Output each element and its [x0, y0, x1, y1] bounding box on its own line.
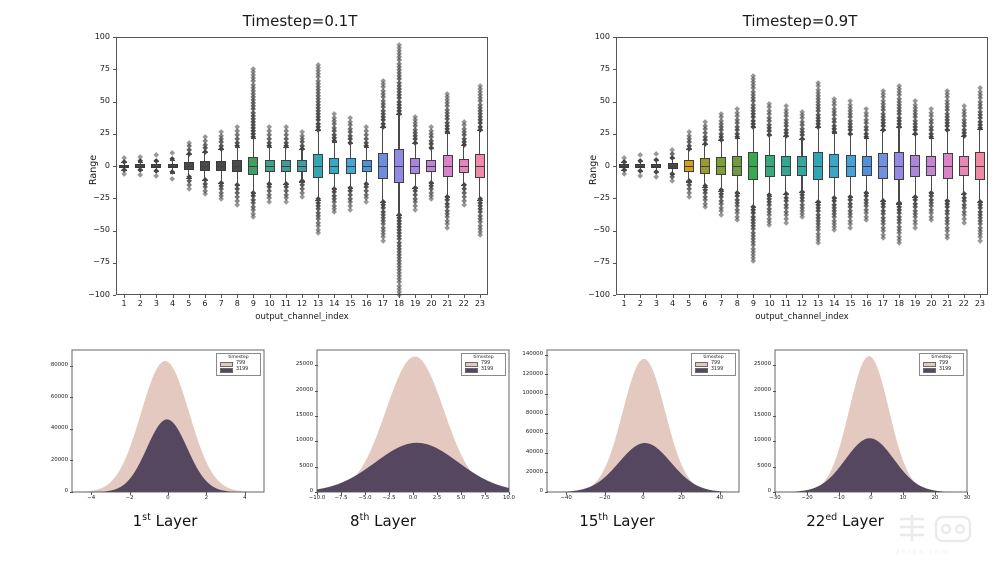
hist-layer-15-ytick-0: 0	[495, 488, 543, 494]
hist-layer-22-xtick-2: −10	[823, 495, 855, 501]
hist-layer-1-ytickmark-3	[70, 397, 73, 398]
boxplot-right-outlier-marker	[815, 240, 821, 246]
boxplot-left-box-column	[375, 0, 391, 335]
boxplot-right-whisker	[866, 138, 867, 157]
boxplot-left-whisker	[237, 147, 238, 160]
boxplot-right-whisker-cap	[864, 193, 870, 194]
hist-layer-22-xtickmark-5	[935, 492, 936, 495]
boxplot-right-whisker-cap	[621, 170, 627, 171]
boxplot-left-outlier-marker	[169, 176, 175, 182]
boxplot-right-whisker	[737, 138, 738, 156]
boxplot-left-whisker-cap	[477, 200, 483, 201]
boxplot-right-median-line	[765, 166, 775, 167]
boxplot-left-whisker-cap	[315, 130, 321, 131]
boxplot-left-box-column	[294, 0, 310, 335]
hist-layer-1-series-3199	[72, 419, 264, 492]
boxplot-right-whisker-cap	[767, 196, 773, 197]
boxplot-right-whisker-cap	[848, 134, 854, 135]
boxplot-right-box-column	[762, 0, 778, 335]
boxplot-right-ylabel: Range	[588, 155, 599, 185]
hist-layer-15-xtick-0: −40	[550, 495, 582, 501]
boxplot-right-whisker-cap	[912, 134, 918, 135]
boxplot-left-whisker	[221, 149, 222, 160]
hist-layer-15-ytickmark-5	[545, 394, 548, 395]
boxplot-right-whisker-cap	[654, 160, 660, 161]
hist-layer-15-xtick-2: 0	[627, 495, 659, 501]
hist-layer-1-xtickmark-3	[206, 492, 207, 495]
hist-layer-15-xtickmark-3	[681, 492, 682, 495]
hist-layer-15-ytick-6: 120000	[495, 371, 543, 377]
layer-caption-8: 8th Layer	[293, 512, 473, 530]
boxplot-left-whisker-cap	[332, 189, 338, 190]
hist-layer-22-xtickmark-4	[903, 492, 904, 495]
layer-caption-1-num: 1	[133, 512, 143, 530]
boxplot-left-xtickmark-10	[286, 295, 287, 298]
boxplot-left-whisker	[398, 183, 399, 215]
boxplot-right-whisker-cap	[864, 138, 870, 139]
boxplot-right-xtickmark-22	[980, 295, 981, 298]
boxplot-left-outlier-marker	[428, 196, 434, 202]
boxplot-right-whisker-cap	[702, 187, 708, 188]
boxplot-right-box-column	[681, 0, 697, 335]
boxplot-right-whisker-cap	[621, 162, 627, 163]
boxplot-right-outlier-marker	[653, 174, 659, 180]
hist-layer-22-legend-swatch	[923, 368, 936, 373]
boxplot-left-ytick-1: −75	[74, 257, 110, 266]
hist-layer-22-legend: timestep7993199	[919, 353, 964, 376]
boxplot-right-outlier-marker	[864, 217, 870, 223]
boxplot-left-whisker	[285, 147, 286, 160]
boxplot-left-whisker-cap	[461, 145, 467, 146]
boxplot-left-xtickmark-19	[431, 295, 432, 298]
boxplot-left-outlier-marker	[234, 202, 240, 208]
boxplot-right-box-column	[697, 0, 713, 335]
histogram-panel-layer-8: 0500010000150002000025000−10.0−7.5−5.0−2…	[265, 344, 515, 514]
boxplot-left-whisker	[318, 178, 319, 200]
boxplot-right-outlier-marker	[831, 227, 837, 233]
hist-layer-22-ytickmark-2	[773, 441, 776, 442]
boxplot-right-box-column	[907, 0, 923, 335]
boxplot-left-outlier-marker	[364, 124, 370, 130]
boxplot-right-whisker	[818, 180, 819, 202]
boxplot-right-whisker	[850, 134, 851, 155]
hist-layer-8-ytick-4: 20000	[265, 387, 313, 393]
boxplot-right-box-column	[810, 0, 826, 335]
boxplot-left-box-column	[456, 0, 472, 335]
boxplot-left-xtickmark-9	[270, 295, 271, 298]
boxplot-right-box-column	[859, 0, 875, 335]
hist-layer-1-legend-item: 3199	[220, 367, 257, 373]
hist-layer-15-ytick-1: 20000	[495, 469, 543, 475]
boxplot-right-ytick-2: −50	[574, 225, 610, 234]
boxplot-left-box-column	[132, 0, 148, 335]
hist-layer-15-ytickmark-3	[545, 433, 548, 434]
boxplot-right-median-line	[910, 166, 920, 167]
boxplot-left-xtickmark-4	[189, 295, 190, 298]
boxplot-right-outlier-marker	[912, 225, 918, 231]
boxplot-left-outlier-marker	[444, 225, 450, 231]
boxplot-right-ytick-5: 25	[574, 128, 610, 137]
boxplot-right-xtickmark-14	[851, 295, 852, 298]
boxplot-right-median-line	[813, 166, 823, 167]
boxplot-left-outlier-marker	[267, 124, 273, 130]
hist-layer-1-legend-label: 3199	[236, 367, 248, 373]
boxplot-right-median-line	[829, 166, 839, 167]
boxplot-right-whisker-cap	[638, 171, 644, 172]
boxplot-right-xtickmark-15	[867, 295, 868, 298]
hist-layer-15-xtickmark-1	[605, 492, 606, 495]
hist-layer-15-ytickmark-2	[545, 453, 548, 454]
boxplot-right-outlier-marker	[653, 151, 659, 157]
boxplot-left-whisker	[350, 143, 351, 158]
boxplot-left-median-line	[200, 166, 210, 167]
boxplot-left-median-line	[216, 166, 226, 167]
boxplot-right-xtickmark-16	[883, 295, 884, 298]
boxplot-left-whisker-cap	[315, 200, 321, 201]
boxplot-right-xtickmark-19	[931, 295, 932, 298]
hist-layer-1-ytick-2: 40000	[20, 425, 68, 431]
boxplot-left-ytick-2: −50	[74, 225, 110, 234]
hist-layer-8-xtickmark-0	[317, 492, 318, 495]
boxplot-right-box-column	[923, 0, 939, 335]
boxplot-left-whisker-cap	[348, 143, 354, 144]
boxplot-right-box-column	[729, 0, 745, 335]
hist-layer-1-xtick-0: −4	[75, 495, 107, 501]
boxplot-left-outlier-marker	[283, 199, 289, 205]
hist-layer-22-xtick-5: 20	[919, 495, 951, 501]
hist-layer-22-xtick-4: 10	[887, 495, 919, 501]
boxplot-left-whisker-cap	[267, 147, 273, 148]
boxplot-right-whisker	[818, 127, 819, 152]
boxplot-left-box-column	[116, 0, 132, 335]
hist-layer-15-ytickmark-0	[545, 492, 548, 493]
boxplot-right-box-column	[648, 0, 664, 335]
boxplot-left-whisker	[301, 149, 302, 160]
boxplot-left-whisker	[334, 174, 335, 189]
hist-layer-15-ytick-2: 40000	[495, 449, 543, 455]
hist-layer-1-xtick-1: −2	[114, 495, 146, 501]
boxplot-left-whisker-cap	[267, 184, 273, 185]
boxplot-left-whisker	[366, 147, 367, 160]
boxplot-right-box-column	[616, 0, 632, 335]
hist-layer-8-xtickmark-2	[365, 492, 366, 495]
hist-layer-22-legend-item: 3199	[923, 367, 960, 373]
hist-layer-15-ytick-3: 60000	[495, 429, 543, 435]
boxplot-left-median-line	[297, 166, 307, 167]
hist-layer-8-ytickmark-4	[315, 391, 318, 392]
boxplot-left-whisker-cap	[396, 114, 402, 115]
boxplot-right-whisker	[979, 129, 980, 153]
boxplot-left-whisker-cap	[283, 184, 289, 185]
boxplot-left-xtickmark-15	[367, 295, 368, 298]
boxplot-left-median-line	[362, 166, 372, 167]
boxplot-left-outlier-marker	[202, 191, 208, 197]
hist-layer-8-ytick-5: 25000	[265, 361, 313, 367]
boxplot-right-ytick-6: 50	[574, 96, 610, 105]
boxplot-right-whisker-cap	[848, 197, 854, 198]
boxplot-left-xtickmark-22	[480, 295, 481, 298]
hist-layer-22-xtickmark-3	[871, 492, 872, 495]
hist-layer-1-xtick-2: 0	[152, 495, 184, 501]
boxplot-left-median-line	[378, 166, 388, 167]
boxplot-left-whisker	[463, 173, 464, 185]
boxplot-right-whisker-cap	[929, 138, 935, 139]
boxplot-left-outlier-marker	[331, 209, 337, 215]
boxplot-left-outlier-marker	[347, 115, 353, 121]
boxplot-right-box-column	[778, 0, 794, 335]
boxplot-left-whisker	[221, 171, 222, 182]
layer-caption-22: 22ed Layer	[755, 512, 935, 530]
boxplot-left-whisker-cap	[380, 127, 386, 128]
boxplot-right-xtickmark-1	[640, 295, 641, 298]
boxplot-right-whisker-cap	[767, 135, 773, 136]
boxplot-left-whisker-cap	[364, 184, 370, 185]
boxplot-right-whisker-cap	[783, 136, 789, 137]
boxplot-right-outlier-marker	[718, 212, 724, 218]
boxplot-left-xtickmark-18	[415, 295, 416, 298]
boxplot-left-outlier-marker	[137, 154, 143, 160]
boxplot-right-whisker	[947, 179, 948, 201]
boxplot-left-whisker-cap	[380, 202, 386, 203]
boxplot-left-whisker-cap	[202, 180, 208, 181]
boxplot-left-box-column	[439, 0, 455, 335]
layer-caption-1-sup: st	[142, 512, 151, 523]
boxplot-right-box-column	[875, 0, 891, 335]
layer-caption-15-num: 15	[579, 512, 598, 530]
boxplot-left-median-line	[265, 166, 275, 167]
boxplot-right-box-column	[745, 0, 761, 335]
boxplot-left-xtickmark-11	[302, 295, 303, 298]
boxplot-left-box-column	[472, 0, 488, 335]
boxplot-right-outlier-marker	[750, 258, 756, 264]
histogram-panel-layer-22: 0500010000150002000025000−30−20−10010203…	[723, 344, 973, 514]
hist-layer-1-xtick-4: 4	[229, 495, 261, 501]
boxplot-left-whisker	[463, 145, 464, 159]
hist-layer-15-xtickmark-2	[643, 492, 644, 495]
layer-caption-8-tail: Layer	[369, 512, 416, 530]
boxplot-left-whisker	[350, 174, 351, 188]
boxplot-left-whisker-cap	[170, 172, 176, 173]
layer-caption-22-tail: Layer	[837, 512, 884, 530]
boxplot-right-median-line	[943, 166, 953, 167]
hist-layer-15-ytickmark-6	[545, 374, 548, 375]
hist-layer-8-ytick-0: 0	[265, 488, 313, 494]
boxplot-left-median-line	[313, 166, 323, 167]
boxplot-right-whisker-cap	[735, 193, 741, 194]
hist-layer-8-ytickmark-2	[315, 441, 318, 442]
boxplot-right-ytick-0: −100	[574, 290, 610, 299]
boxplot-right-whisker-cap	[670, 174, 676, 175]
boxplot-left-outlier-marker	[412, 207, 418, 213]
boxplot-right-whisker	[834, 132, 835, 154]
boxplot-right-whisker-cap	[896, 203, 902, 204]
boxplot-right-xtickmark-10	[786, 295, 787, 298]
hist-layer-22-ytickmark-1	[773, 467, 776, 468]
boxplot-right-box-column	[956, 0, 972, 335]
boxplot-right-whisker-cap	[945, 201, 951, 202]
boxplot-left-median-line	[346, 166, 356, 167]
boxplot-left-whisker	[415, 174, 416, 188]
boxplot-right-median-line	[748, 166, 758, 167]
boxplot-right-median-line	[894, 166, 904, 167]
boxplot-left-xtickmark-6	[221, 295, 222, 298]
boxplot-left-whisker-cap	[251, 138, 257, 139]
hist-layer-15-xtickmark-4	[720, 492, 721, 495]
hist-layer-8-ytickmark-1	[315, 467, 318, 468]
boxplot-left-whisker-cap	[445, 132, 451, 133]
hist-layer-8-ytickmark-5	[315, 365, 318, 366]
boxplot-left-outlier-marker	[169, 150, 175, 156]
boxplot-right-outlier-marker	[669, 178, 675, 184]
boxplot-right-whisker	[785, 176, 786, 194]
hist-layer-22-xtickmark-0	[775, 492, 776, 495]
boxplot-left-outlier-marker	[121, 171, 127, 177]
hist-layer-22-legend-swatch	[923, 362, 936, 367]
boxplot-left-median-line	[151, 166, 161, 167]
boxplot-left-whisker-cap	[202, 152, 208, 153]
boxplot-left-xtickmark-5	[205, 295, 206, 298]
boxplot-left-whisker-cap	[332, 141, 338, 142]
boxplot-right-whisker	[898, 127, 899, 152]
boxplot-left-whisker	[447, 177, 448, 197]
boxplot-left-box-column	[278, 0, 294, 335]
hist-layer-22-ytick-3: 15000	[723, 412, 771, 418]
hist-layer-22-ytick-5: 25000	[723, 361, 771, 367]
histogram-panel-layer-1: 020000400006000080000−4−2024timestep7993…	[20, 344, 270, 514]
boxplot-left-box-column	[326, 0, 342, 335]
boxplot-right-ytick-7: 75	[574, 64, 610, 73]
boxplot-left-xtickmark-3	[173, 295, 174, 298]
boxplot-left-whisker-cap	[445, 197, 451, 198]
boxplot-right-xtickmark-12	[818, 295, 819, 298]
boxplot-panel-timestep-0p9t: Timestep=0.9T Range output_channel_index…	[500, 0, 1000, 335]
hist-layer-15-ytickmark-7	[545, 355, 548, 356]
boxplot-left-whisker-cap	[235, 147, 241, 148]
hist-layer-22-xtickmark-1	[807, 492, 808, 495]
boxplot-right-whisker-cap	[961, 136, 967, 137]
hist-layer-1-xtickmark-0	[91, 492, 92, 495]
boxplot-right-xtickmark-7	[737, 295, 738, 298]
hist-layer-22-xtickmark-2	[839, 492, 840, 495]
boxplot-left-box-column	[391, 0, 407, 335]
boxplot-right-median-line	[651, 166, 661, 167]
boxplot-left-box-column	[165, 0, 181, 335]
boxplot-right-whisker	[688, 149, 689, 160]
boxplot-left-xtickmark-8	[253, 295, 254, 298]
boxplot-right-outlier-marker	[686, 194, 692, 200]
boxplot-right-median-line	[959, 166, 969, 167]
boxplot-left-whisker-cap	[348, 188, 354, 189]
boxplot-left-whisker	[382, 127, 383, 153]
hist-layer-8-xtickmark-1	[341, 492, 342, 495]
boxplot-left-whisker	[237, 172, 238, 185]
boxplot-left-box-column	[407, 0, 423, 335]
hist-layer-22-xtick-3: 0	[855, 495, 887, 501]
hist-layer-15-legend-label: 3199	[711, 367, 723, 373]
boxplot-right-whisker	[947, 130, 948, 153]
hist-layer-22-series-3199	[775, 438, 967, 492]
boxplot-right-box-column	[713, 0, 729, 335]
hist-layer-15-ytickmark-4	[545, 414, 548, 415]
boxplot-left-whisker	[318, 130, 319, 155]
boxplot-right-whisker	[915, 177, 916, 197]
boxplot-left-outlier-marker	[153, 173, 159, 179]
hist-layer-22-ytick-0: 0	[723, 488, 771, 494]
hist-layer-22-xtick-1: −20	[791, 495, 823, 501]
hist-layer-22-ytick-4: 20000	[723, 387, 771, 393]
boxplot-right-box-column	[891, 0, 907, 335]
boxplot-right-whisker	[688, 172, 689, 182]
boxplot-left-median-line	[443, 166, 453, 167]
boxplot-left-whisker	[447, 132, 448, 155]
hist-layer-1-legend-swatch	[220, 362, 233, 367]
boxplot-left-median-line	[184, 166, 194, 167]
boxplot-right-ytick-8: 100	[574, 32, 610, 41]
boxplot-left-whisker	[431, 148, 432, 160]
boxplot-right-whisker	[915, 134, 916, 155]
boxplot-left-box-column	[148, 0, 164, 335]
boxplot-panel-timestep-0p1t: Timestep=0.1T Range output_channel_index…	[0, 0, 500, 335]
boxplot-left-whisker	[382, 179, 383, 202]
hist-layer-22-ytickmark-4	[773, 391, 776, 392]
hist-layer-8-series-3199	[317, 443, 509, 492]
boxplot-left-xtickmark-13	[334, 295, 335, 298]
boxplot-left-whisker	[366, 172, 367, 184]
boxplot-right-whisker-cap	[751, 207, 757, 208]
boxplot-left-outlier-marker	[137, 172, 143, 178]
boxplot-left-whisker-cap	[412, 188, 418, 189]
boxplot-right-whisker	[931, 176, 932, 193]
boxplot-right-whisker-cap	[977, 202, 983, 203]
boxplot-left-whisker-cap	[429, 148, 435, 149]
boxplot-right-outlier-marker	[702, 204, 708, 210]
boxplot-right-whisker	[882, 179, 883, 201]
hist-layer-1-xtickmark-4	[245, 492, 246, 495]
boxplot-left-box-column	[342, 0, 358, 335]
boxplot-left-box-column	[262, 0, 278, 335]
boxplot-left-whisker-cap	[461, 185, 467, 186]
boxplot-left-xtickmark-21	[464, 295, 465, 298]
boxplot-left-box-column	[197, 0, 213, 335]
boxplot-right-outlier-marker	[637, 153, 643, 159]
boxplot-left-whisker-cap	[235, 185, 241, 186]
boxplot-left-xtickmark-1	[140, 295, 141, 298]
boxplot-right-whisker-cap	[670, 158, 676, 159]
hist-layer-1-ytickmark-1	[70, 460, 73, 461]
boxplot-left-outlier-marker	[250, 214, 256, 220]
hist-layer-1-legend-swatch	[220, 368, 233, 373]
boxplot-right-xtickmark-18	[915, 295, 916, 298]
boxplot-left-box-column	[423, 0, 439, 335]
boxplot-right-outlier-marker	[847, 225, 853, 231]
boxplot-left-whisker	[253, 138, 254, 157]
hist-layer-8-xtickmark-5	[437, 492, 438, 495]
boxplot-left-whisker	[204, 171, 205, 181]
boxplot-right-whisker-cap	[832, 198, 838, 199]
hist-layer-15-series-3199	[547, 443, 739, 492]
boxplot-right-median-line	[716, 166, 726, 167]
boxplot-left-whisker-cap	[218, 149, 224, 150]
hist-layer-15-legend-swatch	[695, 362, 708, 367]
boxplot-right-whisker	[801, 176, 802, 192]
hist-layer-8-xtickmark-3	[389, 492, 390, 495]
boxplot-right-median-line	[878, 166, 888, 167]
boxplot-right-outlier-marker	[799, 214, 805, 220]
boxplot-right-whisker-cap	[880, 130, 886, 131]
boxplot-right-xtickmark-5	[705, 295, 706, 298]
hist-layer-8-ytick-1: 5000	[265, 463, 313, 469]
boxplot-right-whisker	[704, 174, 705, 187]
